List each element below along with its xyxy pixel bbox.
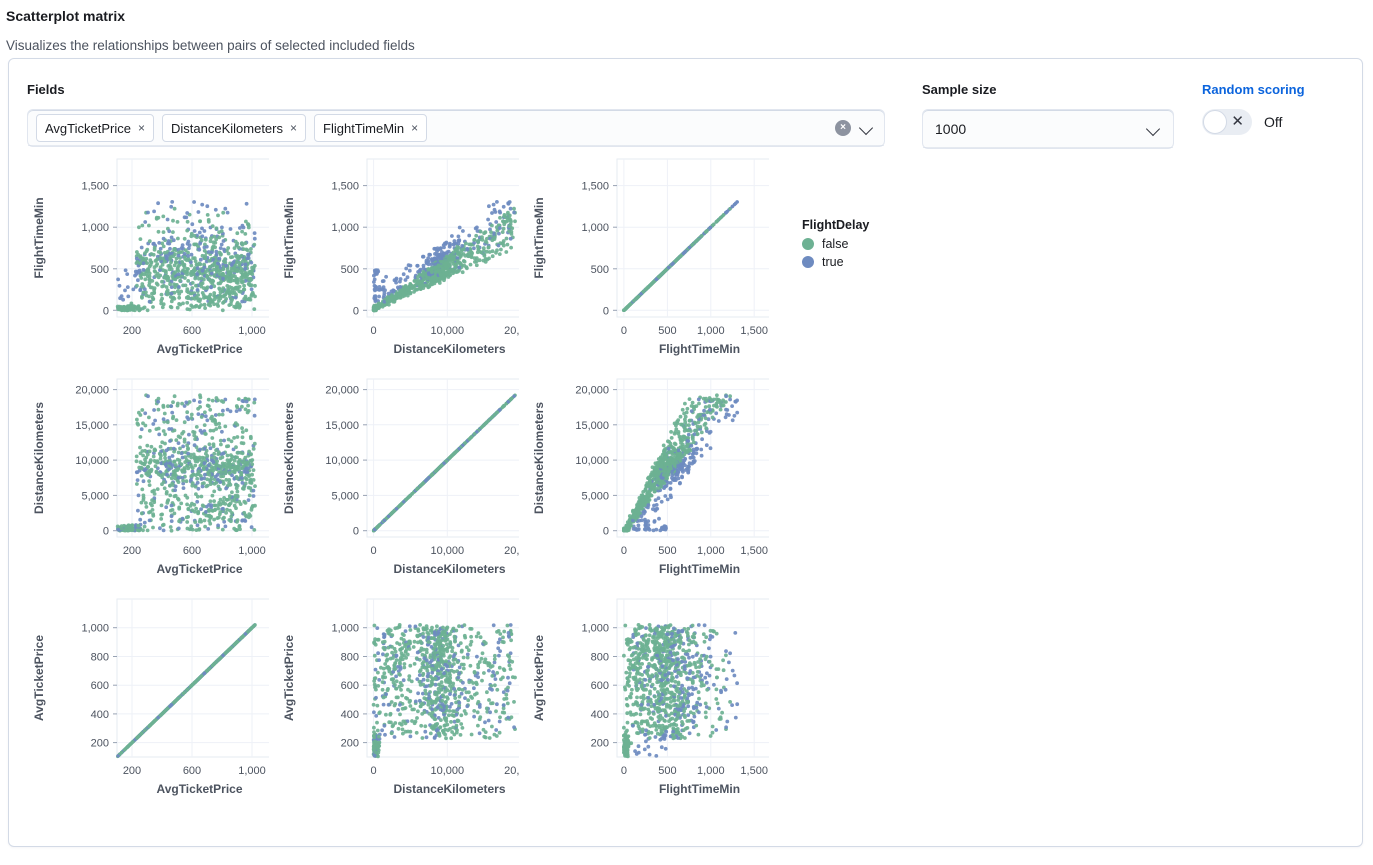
legend-item-false[interactable]: false (802, 237, 869, 251)
svg-text:10,000: 10,000 (430, 325, 464, 337)
svg-text:1,000: 1,000 (81, 222, 109, 234)
data-points (116, 200, 257, 312)
legend-title: FlightDelay (802, 217, 869, 233)
remove-field-icon[interactable]: × (138, 122, 145, 134)
fields-group: Fields AvgTicketPrice × DistanceKilomete… (27, 81, 885, 147)
scatter-cell-distancekilometers-vs-flighttimemin[interactable]: 010,00020,00005001,0001,500DistanceKilom… (269, 151, 519, 371)
svg-text:200: 200 (123, 325, 141, 337)
random-scoring-toggle[interactable]: ✕ (1202, 109, 1252, 135)
field-pill-label: FlightTimeMin (323, 121, 404, 136)
random-scoring-state: Off (1264, 114, 1282, 130)
field-pill[interactable]: FlightTimeMin × (314, 114, 427, 142)
svg-text:AvgTicketPrice: AvgTicketPrice (156, 342, 242, 356)
scatter-cell-flighttimemin-vs-distancekilometers[interactable]: 05001,0001,50005,00010,00015,00020,000Fl… (519, 371, 769, 591)
fields-combobox-actions: × (835, 120, 876, 136)
svg-text:5,000: 5,000 (81, 490, 109, 502)
svg-text:FlightTimeMin: FlightTimeMin (282, 197, 296, 278)
svg-text:20,000: 20,000 (75, 385, 109, 397)
page-subtitle: Visualizes the relationships between pai… (6, 36, 1373, 56)
svg-text:500: 500 (591, 264, 609, 276)
svg-text:1,500: 1,500 (581, 181, 609, 193)
sample-size-label: Sample size (922, 81, 1174, 99)
data-points (372, 623, 517, 758)
svg-text:0: 0 (621, 325, 627, 337)
fields-label: Fields (27, 81, 885, 99)
legend-label-false: false (822, 237, 848, 251)
chevron-down-icon[interactable] (1147, 122, 1161, 136)
sample-size-select[interactable]: 1000 (922, 109, 1174, 149)
svg-text:0: 0 (371, 325, 377, 337)
scatter-cell-distancekilometers-vs-avgticketprice[interactable]: 010,00020,0002004006008001,000DistanceKi… (269, 591, 519, 811)
legend-label-true: true (822, 255, 844, 269)
svg-text:200: 200 (123, 545, 141, 557)
data-points (372, 394, 517, 533)
svg-text:FlightTimeMin: FlightTimeMin (659, 342, 740, 356)
svg-text:1,500: 1,500 (740, 325, 768, 337)
svg-text:DistanceKilometers: DistanceKilometers (393, 342, 505, 356)
svg-text:0: 0 (603, 305, 609, 317)
data-points (116, 393, 257, 532)
legend-swatch-true (802, 256, 814, 268)
data-points (372, 200, 517, 312)
data-points (622, 623, 739, 758)
scatterplot-matrix-panel: Fields AvgTicketPrice × DistanceKilomete… (8, 58, 1363, 847)
controls-row: Fields AvgTicketPrice × DistanceKilomete… (9, 59, 1362, 151)
svg-text:15,000: 15,000 (75, 420, 109, 432)
toggle-knob (1203, 110, 1227, 134)
svg-text:0: 0 (103, 305, 109, 317)
legend: FlightDelay false true (802, 217, 869, 269)
svg-text:0: 0 (353, 305, 359, 317)
svg-text:1,500: 1,500 (331, 181, 359, 193)
field-pill[interactable]: DistanceKilometers × (162, 114, 306, 142)
field-pill[interactable]: AvgTicketPrice × (36, 114, 154, 142)
svg-text:600: 600 (183, 545, 201, 557)
remove-field-icon[interactable]: × (411, 122, 418, 134)
scatter-cell-avgticketprice-vs-avgticketprice[interactable]: 2006001,0002004006008001,000AvgTicketPri… (19, 591, 269, 811)
svg-text:500: 500 (341, 264, 359, 276)
sample-size-group: Sample size 1000 (922, 81, 1174, 149)
data-points (622, 200, 739, 312)
chevron-down-icon[interactable] (860, 121, 874, 135)
svg-text:1,000: 1,000 (581, 222, 609, 234)
scatter-cell-distancekilometers-vs-distancekilometers[interactable]: 010,00020,00005,00010,00015,00020,000Dis… (269, 371, 519, 591)
svg-text:AvgTicketPrice: AvgTicketPrice (156, 562, 242, 576)
data-points (116, 623, 257, 758)
legend-item-true[interactable]: true (802, 255, 869, 269)
scatter-cell-flighttimemin-vs-flighttimemin[interactable]: 05001,0001,50005001,0001,500FlightTimeMi… (519, 151, 769, 371)
svg-text:600: 600 (183, 325, 201, 337)
svg-text:500: 500 (658, 325, 676, 337)
scatter-cell-avgticketprice-vs-flighttimemin[interactable]: 2006001,00005001,0001,500AvgTicketPriceF… (19, 151, 269, 371)
random-scoring-switch-row: ✕ Off (1202, 109, 1305, 135)
field-pill-label: DistanceKilometers (171, 121, 283, 136)
svg-text:0: 0 (103, 526, 109, 538)
clear-all-icon[interactable]: × (835, 120, 851, 136)
scatter-cell-avgticketprice-vs-distancekilometers[interactable]: 2006001,00005,00010,00015,00020,000AvgTi… (19, 371, 269, 591)
data-points (622, 393, 739, 532)
legend-swatch-false (802, 238, 814, 250)
svg-text:500: 500 (91, 264, 109, 276)
random-scoring-label[interactable]: Random scoring (1202, 81, 1305, 99)
svg-text:1,000: 1,000 (238, 545, 266, 557)
sample-size-value: 1000 (935, 121, 966, 137)
svg-text:FlightTimeMin: FlightTimeMin (32, 197, 46, 278)
field-pill-label: AvgTicketPrice (45, 121, 131, 136)
scatter-cell-flighttimemin-vs-avgticketprice[interactable]: 05001,0001,5002004006008001,000FlightTim… (519, 591, 769, 811)
svg-text:1,000: 1,000 (331, 222, 359, 234)
random-scoring-group: Random scoring ✕ Off (1202, 81, 1305, 135)
page-title: Scatterplot matrix (6, 6, 1373, 26)
toggle-off-icon: ✕ (1231, 113, 1244, 131)
svg-text:FlightTimeMin: FlightTimeMin (532, 197, 546, 278)
svg-text:1,500: 1,500 (81, 181, 109, 193)
remove-field-icon[interactable]: × (290, 122, 297, 134)
svg-text:1,000: 1,000 (697, 325, 725, 337)
svg-text:10,000: 10,000 (75, 455, 109, 467)
svg-text:1,000: 1,000 (238, 325, 266, 337)
svg-text:20,000: 20,000 (504, 325, 519, 337)
svg-text:DistanceKilometers: DistanceKilometers (32, 402, 46, 514)
fields-combobox[interactable]: AvgTicketPrice × DistanceKilometers × Fl… (27, 109, 885, 147)
